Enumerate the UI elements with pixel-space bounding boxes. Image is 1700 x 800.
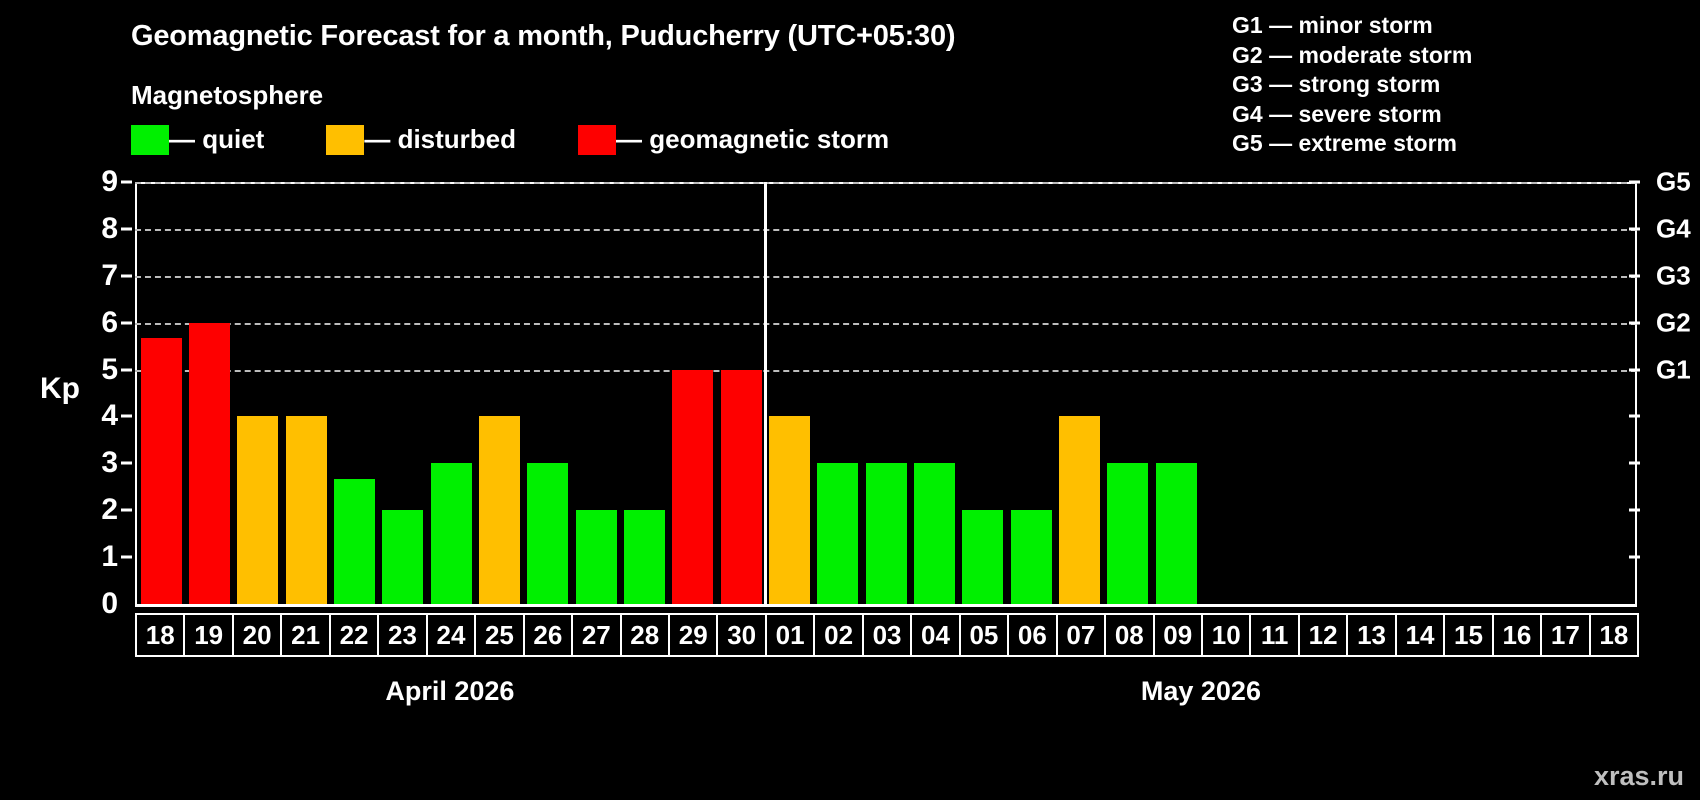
day-cell-3[interactable]: 21: [280, 613, 330, 657]
legend-swatch-icon: [326, 125, 364, 155]
magnetosphere-heading: Magnetosphere: [131, 80, 323, 111]
g-axis-tick-mark-1: [1629, 556, 1640, 559]
bar-slot-05: [959, 182, 1007, 604]
y-tick-label-5: 5: [101, 353, 118, 387]
day-cell-24[interactable]: 12: [1298, 613, 1348, 657]
bar-slot-29: [669, 182, 717, 604]
bar-21: [286, 416, 327, 604]
bar-slot-01: [765, 182, 813, 604]
day-cell-1[interactable]: 19: [183, 613, 233, 657]
y-tick-label-4: 4: [101, 399, 118, 433]
bar-slot-15: [1442, 182, 1490, 604]
day-cell-15[interactable]: 03: [862, 613, 912, 657]
day-cell-13[interactable]: 01: [765, 613, 815, 657]
y-tick-mark-4: [121, 415, 132, 418]
day-cell-0[interactable]: 18: [135, 613, 185, 657]
y-tick-mark-1: [121, 556, 132, 559]
x-axis-days: 1819202122232425262728293001020304050607…: [135, 613, 1637, 657]
g-axis-label-G3: G3: [1656, 260, 1691, 291]
bar-25: [479, 416, 520, 604]
bar-slot-25: [475, 182, 523, 604]
day-cell-22[interactable]: 10: [1201, 613, 1251, 657]
day-cell-28[interactable]: 16: [1492, 613, 1542, 657]
y-axis-label: Kp: [40, 372, 80, 406]
y-tick-label-6: 6: [101, 306, 118, 340]
day-cell-2[interactable]: 20: [232, 613, 282, 657]
g-axis-tick-mark-8: [1629, 227, 1640, 230]
bar-19: [189, 323, 230, 604]
g-axis-tick-mark-2: [1629, 509, 1640, 512]
chart-plot-area: [135, 182, 1637, 607]
day-cell-19[interactable]: 07: [1056, 613, 1106, 657]
bar-02: [817, 463, 858, 604]
day-cell-4[interactable]: 22: [329, 613, 379, 657]
bar-28: [624, 510, 665, 604]
day-cell-27[interactable]: 15: [1443, 613, 1493, 657]
y-tick-label-9: 9: [101, 165, 118, 199]
bar-slot-14: [1394, 182, 1442, 604]
legend-swatch-icon: [578, 125, 616, 155]
g-scale-row-2: G2 — moderate storm: [1232, 41, 1472, 71]
bar-29: [672, 370, 713, 604]
bar-slot-27: [572, 182, 620, 604]
watermark: xras.ru: [1594, 761, 1684, 792]
bar-slot-26: [524, 182, 572, 604]
bar-slot-11: [1249, 182, 1297, 604]
y-tick-mark-3: [121, 462, 132, 465]
y-tick-mark-6: [121, 321, 132, 324]
month-labels: April 2026May 2026: [135, 676, 1637, 720]
y-tick-mark-5: [121, 368, 132, 371]
bar-slot-08: [1104, 182, 1152, 604]
month-label: April 2026: [385, 676, 514, 707]
y-tick-mark-9: [121, 181, 132, 184]
bar-06: [1011, 510, 1052, 604]
legend-item-label: — geomagnetic storm: [616, 124, 889, 155]
day-cell-11[interactable]: 29: [668, 613, 718, 657]
g-scale-row-3: G3 — strong storm: [1232, 70, 1472, 100]
day-cell-12[interactable]: 30: [716, 613, 766, 657]
bar-slot-18: [137, 182, 185, 604]
legend-item-label: — quiet: [169, 124, 264, 155]
day-cell-21[interactable]: 09: [1153, 613, 1203, 657]
bar-slot-07: [1055, 182, 1103, 604]
g-axis-tick-mark-7: [1629, 274, 1640, 277]
y-tick-label-3: 3: [101, 446, 118, 480]
g-scale-row-5: G5 — extreme storm: [1232, 129, 1472, 159]
y-tick-mark-8: [121, 227, 132, 230]
day-cell-10[interactable]: 28: [620, 613, 670, 657]
page-title: Geomagnetic Forecast for a month, Puduch…: [131, 20, 955, 53]
day-cell-6[interactable]: 24: [426, 613, 476, 657]
bar-slot-12: [1297, 182, 1345, 604]
bar-30: [721, 370, 762, 604]
bar-slot-09: [1152, 182, 1200, 604]
bar-26: [527, 463, 568, 604]
day-cell-20[interactable]: 08: [1104, 613, 1154, 657]
g-axis-label-G5: G5: [1656, 167, 1691, 198]
day-cell-16[interactable]: 04: [910, 613, 960, 657]
day-cell-18[interactable]: 06: [1007, 613, 1057, 657]
g-scale-legend: G1 — minor stormG2 — moderate stormG3 — …: [1232, 11, 1472, 159]
bar-22: [334, 479, 375, 604]
g-axis-label-G1: G1: [1656, 354, 1691, 385]
g-axis-tick-mark-5: [1629, 368, 1640, 371]
bar-slot-21: [282, 182, 330, 604]
bar-slot-02: [814, 182, 862, 604]
y-tick-label-8: 8: [101, 212, 118, 246]
day-cell-8[interactable]: 26: [523, 613, 573, 657]
bar-slot-24: [427, 182, 475, 604]
day-cell-26[interactable]: 14: [1395, 613, 1445, 657]
g-axis-tick-mark-4: [1629, 415, 1640, 418]
bar-slot-10: [1200, 182, 1248, 604]
day-cell-17[interactable]: 05: [959, 613, 1009, 657]
bar-23: [382, 510, 423, 604]
bar-09: [1156, 463, 1197, 604]
day-cell-5[interactable]: 23: [377, 613, 427, 657]
bar-slot-03: [862, 182, 910, 604]
bar-03: [866, 463, 907, 604]
plot-border-bottom: [135, 604, 1637, 607]
y-tick-label-0: 0: [101, 587, 118, 621]
day-cell-14[interactable]: 02: [813, 613, 863, 657]
bar-slot-30: [717, 182, 765, 604]
bar-04: [914, 463, 955, 604]
legend-item-label: — disturbed: [364, 124, 516, 155]
month-separator: [764, 182, 767, 607]
bar-18: [141, 338, 182, 604]
day-cell-30[interactable]: 18: [1589, 613, 1639, 657]
bar-slot-19: [185, 182, 233, 604]
bar-slot-22: [330, 182, 378, 604]
g-axis-tick-mark-3: [1629, 462, 1640, 465]
bar-slot-28: [620, 182, 668, 604]
day-cell-23[interactable]: 11: [1249, 613, 1299, 657]
legend-item-2: — geomagnetic storm: [578, 124, 889, 155]
bar-27: [576, 510, 617, 604]
bar-05: [962, 510, 1003, 604]
legend-swatch-icon: [131, 125, 169, 155]
bar-01: [769, 416, 810, 604]
y-tick-mark-2: [121, 509, 132, 512]
bar-07: [1059, 416, 1100, 604]
bar-slot-17: [1539, 182, 1587, 604]
bar-slot-04: [910, 182, 958, 604]
g-axis-label-G2: G2: [1656, 307, 1691, 338]
bar-slot-13: [1345, 182, 1393, 604]
bar-series: [137, 182, 1635, 604]
g-axis-tick-mark-6: [1629, 321, 1640, 324]
y-tick-label-1: 1: [101, 540, 118, 574]
g-scale-row-4: G4 — severe storm: [1232, 100, 1472, 130]
y-tick-label-7: 7: [101, 259, 118, 293]
g-axis-tick-mark-9: [1629, 181, 1640, 184]
bar-20: [237, 416, 278, 604]
bar-24: [431, 463, 472, 604]
y-tick-label-2: 2: [101, 493, 118, 527]
day-cell-29[interactable]: 17: [1540, 613, 1590, 657]
bar-slot-16: [1490, 182, 1538, 604]
g-axis-label-G4: G4: [1656, 213, 1691, 244]
bar-slot-20: [234, 182, 282, 604]
magnetosphere-legend: — quiet— disturbed— geomagnetic storm: [131, 124, 951, 155]
month-label: May 2026: [1141, 676, 1261, 707]
bar-slot-18: [1587, 182, 1635, 604]
day-cell-9[interactable]: 27: [571, 613, 621, 657]
plot-border-right: [1635, 182, 1637, 607]
legend-item-1: — disturbed: [326, 124, 516, 155]
legend-item-0: — quiet: [131, 124, 264, 155]
day-cell-25[interactable]: 13: [1346, 613, 1396, 657]
y-tick-mark-7: [121, 274, 132, 277]
day-cell-7[interactable]: 25: [474, 613, 524, 657]
bar-slot-06: [1007, 182, 1055, 604]
bar-08: [1107, 463, 1148, 604]
g-scale-row-1: G1 — minor storm: [1232, 11, 1472, 41]
g-scale-axis: G1G2G3G4G5: [1640, 182, 1700, 607]
bar-slot-23: [379, 182, 427, 604]
